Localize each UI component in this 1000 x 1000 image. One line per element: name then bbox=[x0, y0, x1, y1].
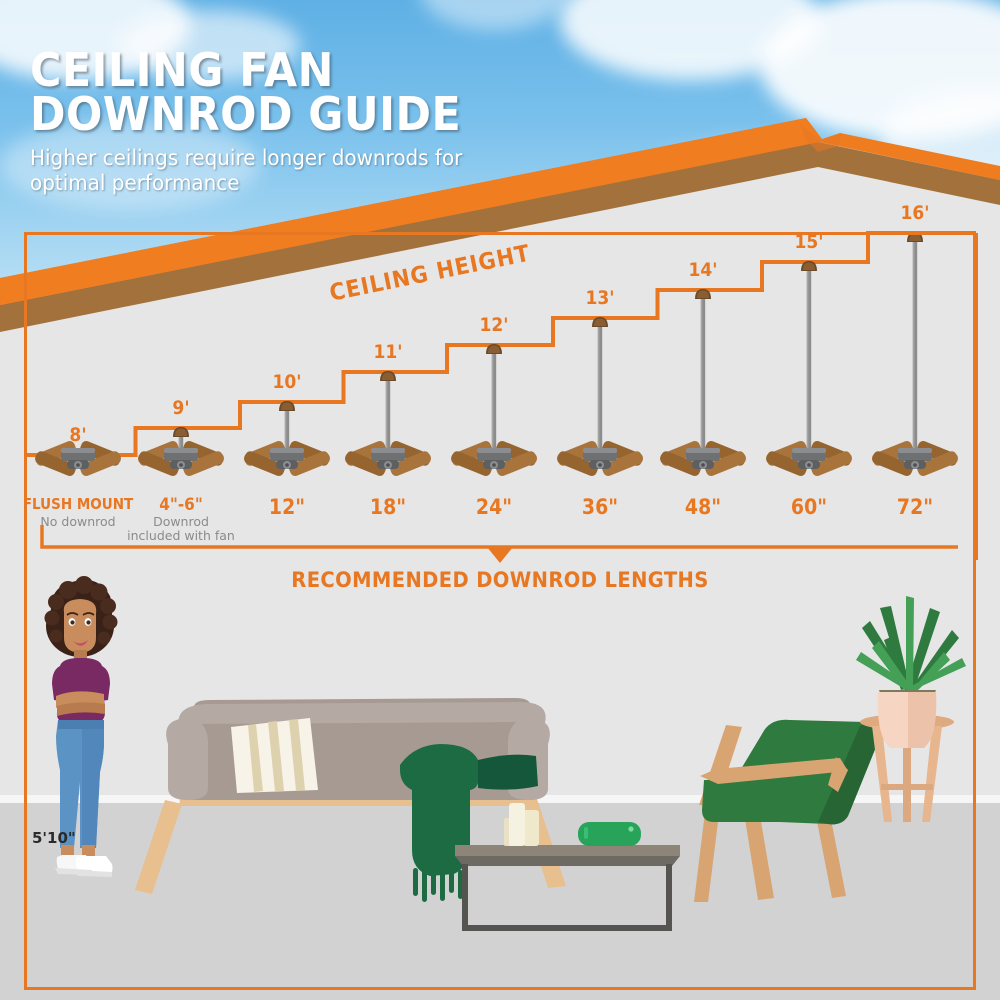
ceiling-height-16ft: 16' bbox=[900, 202, 929, 224]
downrod-length-10ft: 12" bbox=[269, 495, 305, 519]
downrod-length-13ft: 36" bbox=[582, 495, 618, 519]
ceiling-height-10ft: 10' bbox=[272, 371, 301, 393]
downrod-length-12ft: 24" bbox=[476, 495, 512, 519]
downrod-length-8ft: FLUSH MOUNT bbox=[23, 495, 133, 513]
downrod-length-11ft: 18" bbox=[370, 495, 406, 519]
downrod-length-16ft: 72" bbox=[897, 495, 933, 519]
downrod-note-8ft: No downrod bbox=[40, 515, 115, 529]
ceiling-height-12ft: 12' bbox=[479, 314, 508, 336]
downrod-length-14ft: 48" bbox=[685, 495, 721, 519]
ceiling-height-8ft: 8' bbox=[69, 424, 86, 446]
person-height-label: 5'10" bbox=[32, 829, 76, 847]
ceiling-height-15ft: 15' bbox=[794, 231, 823, 253]
recommended-downrod-label: RECOMMENDED DOWNROD LENGTHS bbox=[291, 568, 708, 592]
downrod-length-15ft: 60" bbox=[791, 495, 827, 519]
downrod-note-9ft: Downrodincluded with fan bbox=[127, 515, 235, 543]
infographic-canvas: CEILING FAN DOWNROD GUIDE Higher ceiling… bbox=[0, 0, 1000, 1000]
diagram-frame bbox=[24, 232, 976, 990]
ceiling-height-13ft: 13' bbox=[585, 287, 614, 309]
downrod-length-9ft: 4"-6" bbox=[159, 495, 203, 515]
ceiling-height-9ft: 9' bbox=[172, 397, 189, 419]
ceiling-height-11ft: 11' bbox=[373, 341, 402, 363]
ceiling-height-14ft: 14' bbox=[688, 259, 717, 281]
